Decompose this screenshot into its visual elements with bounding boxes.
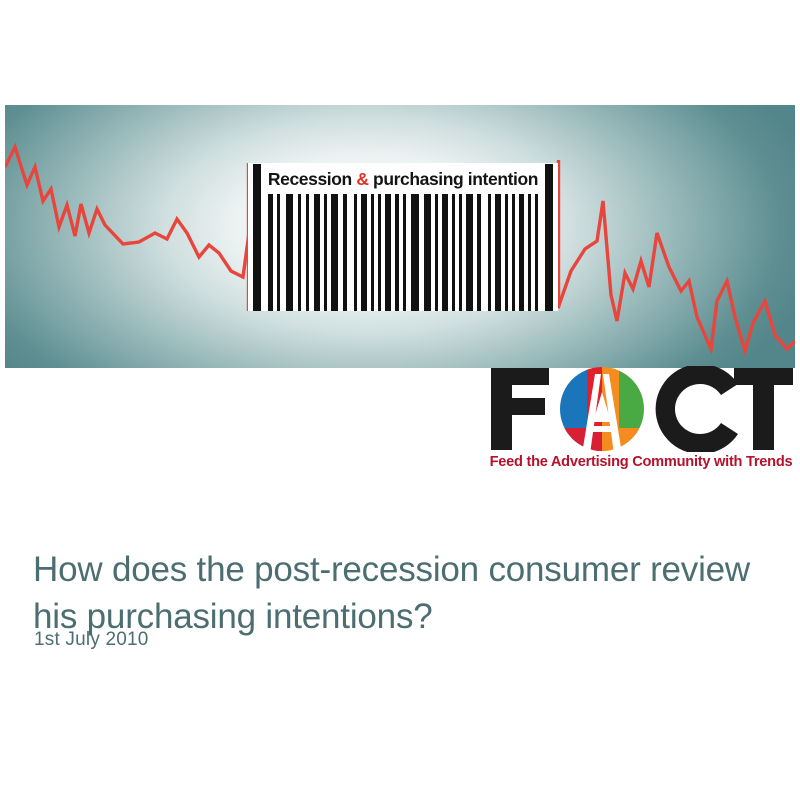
barcode-label-part2: purchasing intention [369, 169, 539, 189]
barcode-bar [519, 194, 524, 311]
barcode-bar [459, 194, 462, 311]
barcode-guard-left [253, 164, 261, 311]
barcode-label-ampersand: & [356, 169, 368, 189]
barcode-bar [411, 194, 419, 311]
barcode-bars [248, 194, 558, 311]
trend-line-left [5, 147, 249, 277]
barcode-bar [512, 194, 515, 311]
barcode-bar [385, 194, 391, 311]
barcode-bar [452, 194, 455, 311]
barcode-bar [324, 194, 327, 311]
barcode-bar [361, 194, 367, 311]
barcode-bar [466, 194, 473, 311]
barcode-guard-right [545, 164, 553, 311]
logo-letter-a-disc [560, 367, 645, 452]
barcode-bar [435, 194, 438, 311]
logo-letter-t [734, 368, 793, 450]
barcode-bar [343, 194, 347, 311]
barcode-bar [306, 194, 309, 311]
barcode-plate: Recession & purchasing intention [248, 163, 558, 311]
barcode-bar [505, 194, 508, 311]
logo-letter-c [656, 366, 738, 452]
barcode-bar [298, 194, 301, 311]
barcode-bar [424, 194, 431, 311]
hero-banner: Recession & purchasing intention [5, 105, 795, 368]
barcode-bar [403, 194, 406, 311]
barcode-bar [477, 194, 481, 311]
page-title: How does the post-recession consumer rev… [33, 546, 753, 640]
barcode-bar [354, 194, 357, 311]
barcode-bar [535, 194, 538, 311]
barcode-bar [331, 194, 338, 311]
barcode-bar [395, 194, 399, 311]
barcode-bar [378, 194, 381, 311]
logo-tagline: Feed the Advertising Community with Tren… [487, 454, 795, 470]
logo-letter-f [491, 368, 549, 450]
barcode-bar [371, 194, 374, 311]
slide-date: 1st July 2010 [34, 629, 149, 651]
barcode-bar [442, 194, 448, 311]
barcode-label: Recession & purchasing intention [264, 165, 542, 193]
barcode-bar [488, 194, 491, 311]
barcode-label-part1: Recession [268, 169, 356, 189]
fact-logo-letters [487, 366, 795, 452]
barcode-bar [314, 194, 320, 311]
barcode-bar [286, 194, 293, 311]
barcode-bar [268, 194, 273, 311]
barcode-bar [495, 194, 501, 311]
trend-line-right [558, 201, 795, 351]
barcode-bar [528, 194, 531, 311]
barcode-bar [277, 194, 280, 311]
fact-logo: Feed the Advertising Community with Tren… [487, 366, 795, 478]
barcode-graphic: Recession & purchasing intention [243, 163, 563, 311]
